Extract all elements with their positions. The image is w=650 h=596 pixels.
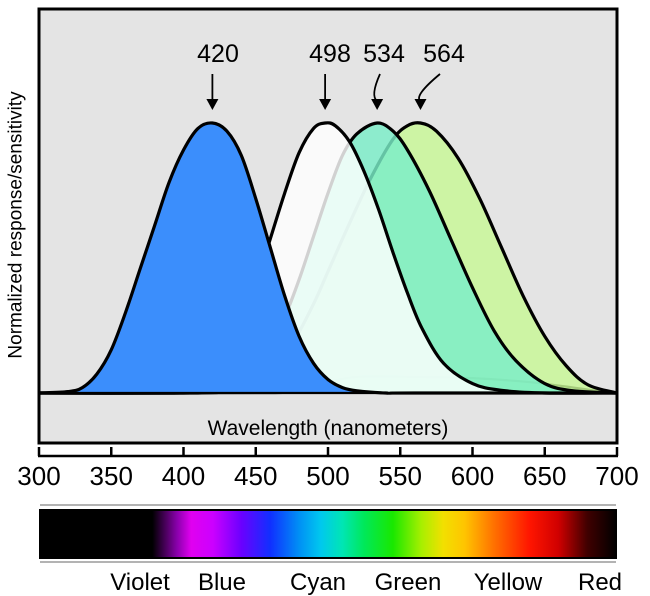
x-tick-label: 350 — [90, 461, 133, 491]
spectrum-label: Red — [578, 569, 622, 596]
x-tick-label: 650 — [523, 461, 566, 491]
peak-label: 564 — [423, 40, 465, 68]
x-axis-tick-labels: 300350400450500550600650700 — [17, 461, 638, 491]
spectrum-label: Blue — [198, 569, 246, 596]
spectrum-color-labels: VioletBlueCyanGreenYellowRed — [110, 569, 622, 596]
peak-label: 534 — [363, 40, 405, 68]
x-tick-label: 550 — [379, 461, 422, 491]
x-tick-label: 450 — [234, 461, 277, 491]
spectrum-label: Yellow — [474, 569, 543, 596]
x-tick-label: 400 — [162, 461, 205, 491]
x-tick-label: 300 — [17, 461, 60, 491]
spectrum-label: Violet — [110, 569, 170, 596]
x-tick-label: 700 — [595, 461, 638, 491]
x-tick-label: 500 — [306, 461, 349, 491]
x-axis-ticks — [39, 447, 617, 456]
x-tick-label: 600 — [451, 461, 494, 491]
spectrum-label: Cyan — [290, 569, 346, 596]
x-axis-label: Wavelength (nanometers) — [208, 417, 449, 440]
spectral-sensitivity-figure: Normalized response/sensitivity Waveleng… — [0, 0, 650, 596]
spectrum-label: Green — [375, 569, 442, 596]
peak-label: 498 — [309, 40, 351, 68]
peak-label: 420 — [197, 40, 239, 68]
visible-spectrum-bar — [40, 510, 616, 558]
chart-canvas: Wavelength (nanometers) 3003504004505005… — [0, 0, 650, 596]
